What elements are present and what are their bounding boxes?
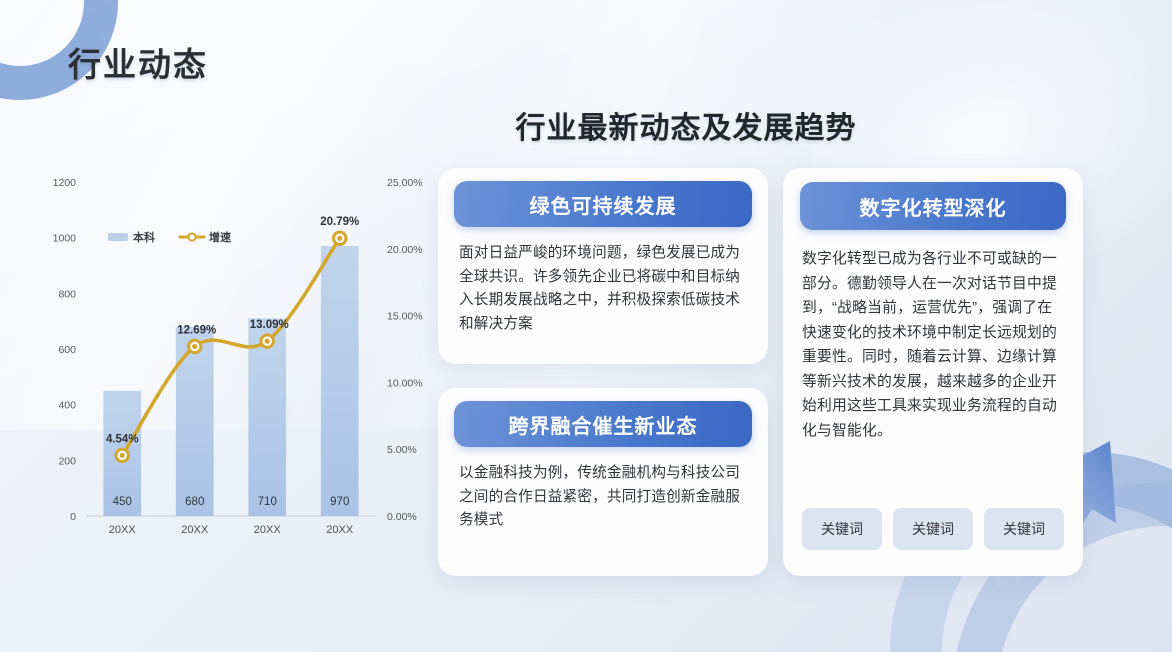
chart-line-value-label: 4.54% — [106, 433, 139, 445]
chart-bar-value-label: 970 — [330, 496, 349, 508]
chart-line-marker-dot — [337, 236, 342, 241]
chart-line-marker-dot — [192, 344, 197, 349]
chart-left-axis-tick: 1200 — [53, 177, 77, 189]
chart-growth-line — [122, 238, 340, 455]
chart-right-axis-tick: 5.00% — [387, 444, 417, 456]
page-kicker-title: 行业动态 — [68, 38, 208, 86]
keyword-chip[interactable]: 关键词 — [802, 508, 882, 550]
chart-legend-line-label: 增速 — [209, 230, 231, 244]
card-green-body: 面对日益严峻的环境问题，绿色发展已成为全球共识。许多领先企业已将碳中和目标纳入长… — [459, 242, 747, 337]
chart-right-axis-tick: 20.00% — [387, 244, 423, 256]
card-crossover-body: 以金融科技为例，传统金融机构与科技公司之间的合作日益紧密，共同打造创新金融服务模… — [459, 462, 747, 533]
card-crossover-title: 跨界融合催生新业态 — [454, 401, 752, 447]
page-title: 行业最新动态及发展趋势 — [0, 103, 1172, 147]
chart-left-axis-tick: 1000 — [53, 233, 77, 245]
chart-right-axis-tick: 25.00% — [387, 177, 423, 189]
chart-line-marker-dot — [120, 453, 125, 458]
card-crossover-integration[interactable]: 跨界融合催生新业态 以金融科技为例，传统金融机构与科技公司之间的合作日益紧密，共… — [438, 388, 768, 576]
chart-legend-bar-label: 本科 — [133, 230, 155, 244]
chart-left-axis-tick: 800 — [58, 288, 76, 300]
card-digital-body: 数字化转型已成为各行业不可或缺的一部分。德勤领导人在一次对话节目中提到，“战略当… — [802, 247, 1064, 444]
chart-line-value-label: 20.79% — [320, 216, 359, 228]
chart-right-axis-tick: 15.00% — [387, 311, 423, 323]
chart-right-axis-tick: 0.00% — [387, 511, 417, 523]
chart-left-axis-tick: 400 — [58, 400, 76, 412]
chart-legend-bar-swatch — [108, 233, 128, 241]
keyword-chip-group: 关键词 关键词 关键词 — [802, 508, 1064, 550]
chart-category-label: 20XX — [326, 524, 354, 536]
chart-legend-line-marker — [188, 233, 195, 240]
chart-right-axis-tick: 10.00% — [387, 377, 423, 389]
card-green-sustainability[interactable]: 绿色可持续发展 面对日益严峻的环境问题，绿色发展已成为全球共识。许多领先企业已将… — [438, 168, 768, 364]
chart-line-value-label: 12.69% — [177, 324, 216, 336]
keyword-chip[interactable]: 关键词 — [893, 508, 973, 550]
chart-line-value-label: 13.09% — [250, 319, 289, 331]
industry-growth-chart: 0200400600800100012000.00%5.00%10.00%15.… — [34, 168, 438, 560]
chart-left-axis-tick: 0 — [70, 511, 76, 523]
chart-line-marker-dot — [265, 339, 270, 344]
chart-left-axis-tick: 200 — [58, 455, 76, 467]
chart-bar — [321, 246, 359, 516]
chart-bar-value-label: 710 — [258, 496, 277, 508]
chart-bar-value-label: 680 — [185, 496, 204, 508]
chart-bar — [176, 327, 214, 516]
keyword-chip[interactable]: 关键词 — [984, 508, 1064, 550]
card-digital-transformation[interactable]: 数字化转型深化 数字化转型已成为各行业不可或缺的一部分。德勤领导人在一次对话节目… — [783, 168, 1083, 576]
chart-bar-value-label: 450 — [113, 496, 132, 508]
chart-category-label: 20XX — [181, 524, 209, 536]
card-digital-title: 数字化转型深化 — [800, 182, 1066, 230]
card-green-title: 绿色可持续发展 — [454, 181, 752, 227]
chart-category-label: 20XX — [254, 524, 282, 536]
chart-left-axis-tick: 600 — [58, 344, 76, 356]
chart-category-label: 20XX — [109, 524, 137, 536]
